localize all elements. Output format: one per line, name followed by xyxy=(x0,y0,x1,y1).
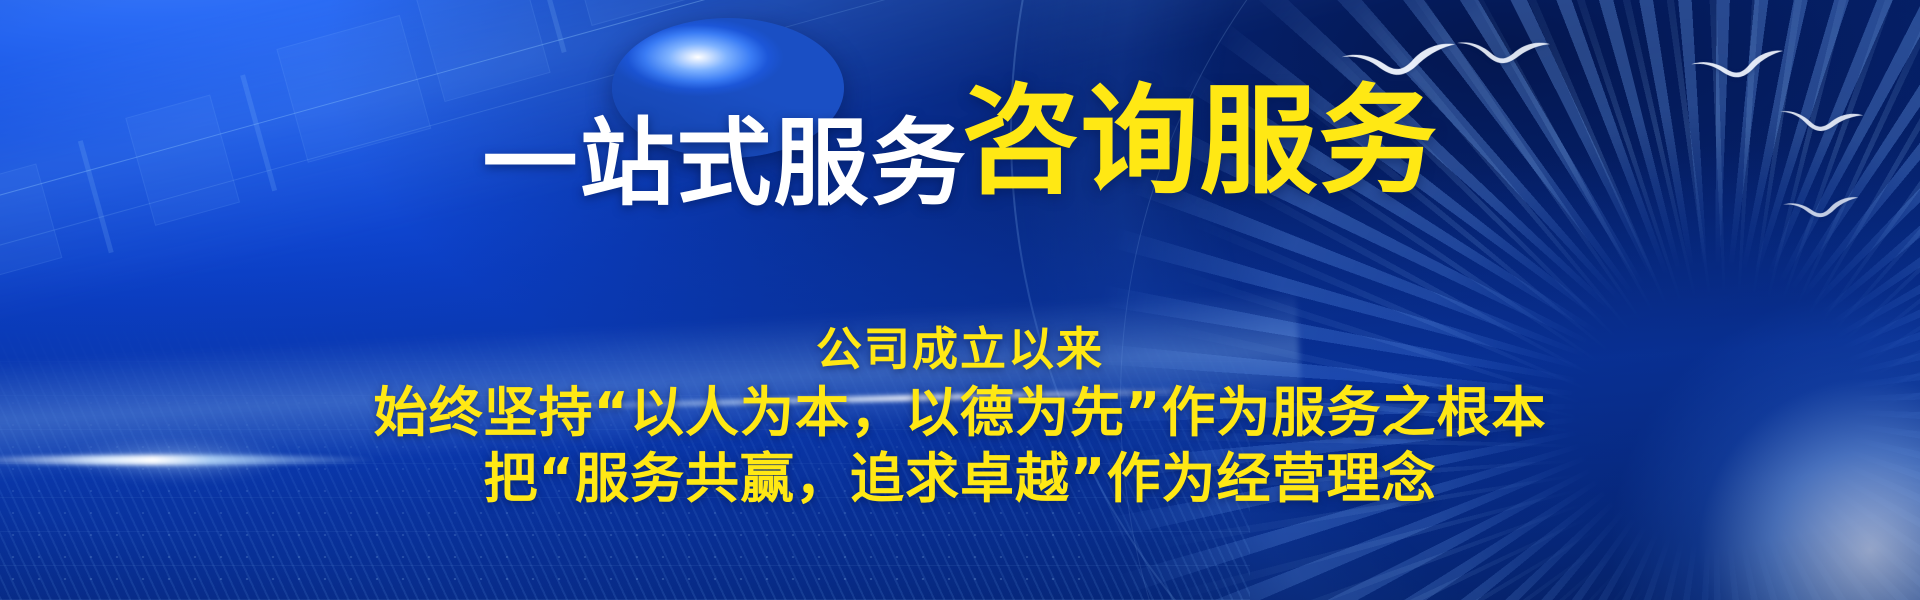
promotional-banner: 一站式服务咨询服务 公司成立以来 始终坚持“以人为本，以德为先”作为服务之根本 … xyxy=(0,0,1920,600)
headline-primary: 一站式服务 xyxy=(482,109,967,219)
body-line-2: 始终坚持“以人为本，以德为先”作为服务之根本 xyxy=(0,380,1920,446)
headline: 一站式服务咨询服务 xyxy=(0,96,1920,214)
headline-accent: 咨询服务 xyxy=(962,72,1438,210)
body-line-1: 公司成立以来 xyxy=(0,318,1920,380)
body-line-3: 把“服务共赢，追求卓越”作为经营理念 xyxy=(0,446,1920,512)
body-copy: 公司成立以来 始终坚持“以人为本，以德为先”作为服务之根本 把“服务共赢，追求卓… xyxy=(0,318,1920,512)
seagull-2-icon xyxy=(1454,36,1551,69)
